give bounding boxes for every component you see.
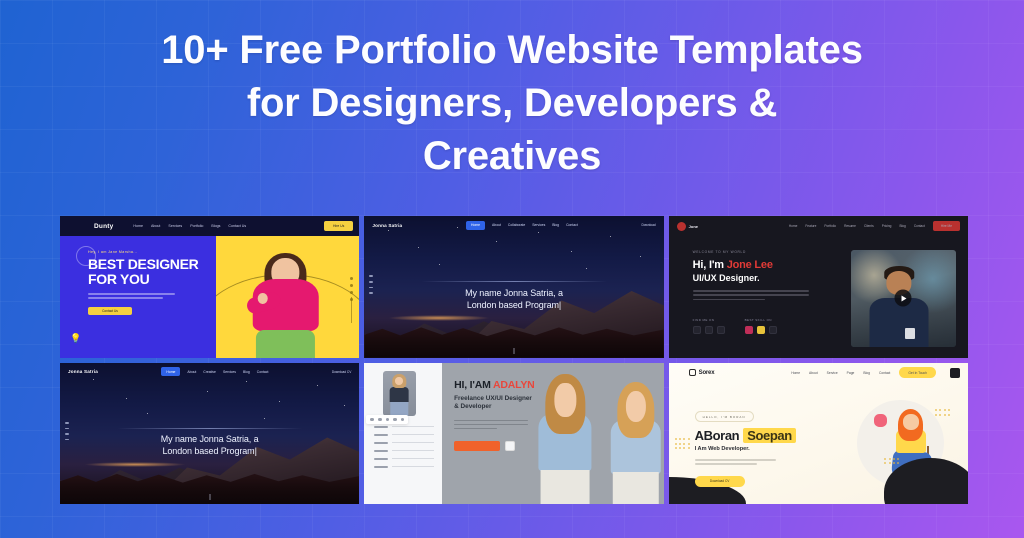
jonelee-heading-accent: Jone Lee <box>727 259 773 271</box>
sorex-cta-button[interactable]: Get In Touch <box>899 367 936 378</box>
dot-pattern-icon <box>935 409 950 415</box>
adalyn-hire-button[interactable] <box>454 441 500 451</box>
sketch-icon[interactable] <box>757 326 765 334</box>
person-front <box>539 374 592 504</box>
dribbble-icon[interactable] <box>401 418 405 422</box>
horizon-glow <box>117 428 303 429</box>
jonna-a-nav-item-home[interactable]: Home <box>466 221 485 230</box>
sorex-body-text <box>695 459 777 465</box>
jonelee-social-group-find: FIND ME ON <box>693 318 725 334</box>
adalyn-hero-copy: HI, I'AM ADALYN Freelance UX/UI Designer… <box>442 363 544 505</box>
dunty-hero-image <box>216 236 360 358</box>
jonelee-nav-item-clients[interactable]: Clients <box>864 224 874 228</box>
invision-icon[interactable] <box>745 326 753 334</box>
sorex-download-button[interactable]: Download CV <box>695 476 745 487</box>
dunty-nav-cta-button[interactable]: Hire Us <box>324 221 353 231</box>
dunty-hero: 💡 Hey, I am Jane Marsha... BEST DESIGNER… <box>60 236 359 358</box>
adalyn-social-icons[interactable] <box>366 415 408 425</box>
dunty-person-illustration <box>232 251 338 358</box>
jonelee-navbar: Jone Home Feature Portfolio Resume Clien… <box>669 216 968 236</box>
jonna-a-nav-menu: Home About Collaborate Services Blog Con… <box>466 221 578 230</box>
jonna-a-heading-line2: London based Program| <box>403 299 625 311</box>
title-line-2: for Designers, Developers & <box>0 77 1024 130</box>
jonelee-hire-button[interactable]: Hire Me <box>933 221 960 231</box>
adalyn-hero-image <box>531 363 664 505</box>
template-thumbnail-jonna-satria-a[interactable]: Jonna Satria Home About Collaborate Serv… <box>364 216 663 358</box>
sorex-heading: ABoran Soepan <box>695 428 819 443</box>
page-title: 10+ Free Portfolio Website Templates for… <box>0 0 1024 182</box>
adalyn-heading-prefix: HI, I'AM <box>454 379 493 391</box>
instagram-icon[interactable] <box>705 326 713 334</box>
sorex-navbar: Sorex Home About Service Page Blog Conta… <box>669 363 968 383</box>
jonna-b-heading-line1: My name Jonna Satria, a <box>99 433 321 445</box>
jonelee-nav-item-contact[interactable]: Contact <box>914 224 925 228</box>
dot-pattern-icon <box>884 458 899 464</box>
jonelee-nav-item-resume[interactable]: Resume <box>844 224 856 228</box>
linkedin-icon[interactable] <box>393 418 397 422</box>
jonna-b-heading: My name Jonna Satria, a London based Pro… <box>99 433 321 457</box>
dunty-nav-menu: Home About Services Portfolio Blogs Cont… <box>133 224 246 228</box>
sorex-hero-copy: HELLO, I'M BORAN ABoran Soepan I Am Web … <box>669 383 819 505</box>
dunty-navbar: Dunty Home About Services Portfolio Blog… <box>60 216 359 236</box>
jonelee-heading: Hi, I'm Jone Lee <box>693 259 839 272</box>
jonelee-heading-prefix: Hi, I'm <box>693 259 727 271</box>
dunty-nav-item-blogs[interactable]: Blogs <box>211 224 220 228</box>
sorex-nav-item-contact[interactable]: Contact <box>879 371 890 375</box>
social-dots-icon <box>350 277 353 301</box>
jonelee-logo: Jone <box>689 224 698 229</box>
jonna-a-heading: My name Jonna Satria, a London based Pro… <box>403 287 625 311</box>
sorex-nav-item-about[interactable]: About <box>809 371 818 375</box>
template-gallery: Dunty Home About Services Portfolio Blog… <box>60 216 968 504</box>
menu-toggle-icon[interactable] <box>950 368 960 378</box>
dunty-nav-item-about[interactable]: About <box>151 224 160 228</box>
list-item <box>374 442 434 444</box>
jonna-a-nav-item-about[interactable]: About <box>492 223 501 227</box>
adalyn-secondary-button[interactable] <box>505 441 515 451</box>
adalyn-subheading: Freelance UX/UI Designer & Developer <box>454 395 533 412</box>
adalyn-profile-photo <box>383 371 416 416</box>
template-thumbnail-jone-lee[interactable]: Jone Home Feature Portfolio Resume Clien… <box>669 216 968 358</box>
jonelee-social-label-right: BEST SKILL ON <box>745 318 777 322</box>
instagram-icon[interactable] <box>386 418 390 422</box>
jonelee-social-group-skills: BEST SKILL ON <box>745 318 777 334</box>
adalyn-actions <box>454 441 544 451</box>
social-sidebar-icon[interactable] <box>369 275 373 293</box>
jonna-b-heading-line2: London based Program| <box>99 445 321 457</box>
jonna-a-nav-item-services[interactable]: Services <box>532 223 545 227</box>
jonna-a-heading-line1: My name Jonna Satria, a <box>403 287 625 299</box>
jonna-a-logo[interactable]: Jonna Satria <box>372 223 402 228</box>
dunty-heading-line1: BEST DESIGNER <box>88 257 216 272</box>
sorex-nav-menu: Home About Service Page Blog Contact Get… <box>791 367 960 378</box>
jonelee-nav-item-home[interactable]: Home <box>789 224 798 228</box>
horizon-glow <box>421 281 607 282</box>
sorex-subheading: I Am Web Developer. <box>695 446 819 452</box>
adalyn-heading-accent: ADALYN <box>493 379 535 391</box>
jonelee-social-row: FIND ME ON BEST SKILL ON <box>693 318 839 334</box>
dunty-nav-item-contact[interactable]: Contact Us <box>228 224 246 228</box>
dunty-nav-item-services[interactable]: Services <box>168 224 182 228</box>
linkedin-icon[interactable] <box>717 326 725 334</box>
sorex-logo-icon <box>689 369 696 376</box>
circle-decoration-icon <box>76 246 96 266</box>
template-thumbnail-adalyn[interactable]: HI, I'AM ADALYN Freelance UX/UI Designer… <box>364 363 663 505</box>
jonelee-brand[interactable]: Jone <box>677 222 698 231</box>
sorex-hero-illustration <box>818 383 968 505</box>
jonna-a-nav-item-blog[interactable]: Blog <box>552 223 559 227</box>
adalyn-hero: HI, I'AM ADALYN Freelance UX/UI Designer… <box>442 363 664 505</box>
twitter-icon[interactable] <box>378 418 382 422</box>
jonelee-nav-item-blog[interactable]: Blog <box>899 224 905 228</box>
sorex-brand[interactable]: Sorex <box>689 369 715 376</box>
list-item <box>374 458 434 460</box>
avatar-icon <box>677 222 686 231</box>
template-thumbnail-dunty[interactable]: Dunty Home About Services Portfolio Blog… <box>60 216 359 358</box>
jonelee-social-label-left: FIND ME ON <box>693 318 725 322</box>
facebook-icon[interactable] <box>370 418 374 422</box>
list-item <box>374 466 434 468</box>
jonelee-body-text <box>693 290 810 300</box>
jonelee-hero: WELCOME TO MY WORLD Hi, I'm Jone Lee UI/… <box>669 236 968 358</box>
dunty-eyebrow: Hey, I am Jane Marsha... <box>88 250 216 254</box>
sorex-nav-item-blog[interactable]: Blog <box>863 371 870 375</box>
city-lights <box>388 315 490 321</box>
jonelee-nav-menu: Home Feature Portfolio Resume Clients Pr… <box>789 221 960 231</box>
play-button-icon[interactable] <box>895 290 912 307</box>
jonna-a-nav-download[interactable]: Download <box>641 223 655 227</box>
adalyn-body-text <box>454 420 528 430</box>
jonna-b-nav-download[interactable]: Download CV <box>332 370 352 374</box>
scroll-indicator-icon <box>513 348 514 354</box>
jonelee-nav-item-portfolio[interactable]: Portfolio <box>824 224 836 228</box>
dunty-body-text <box>88 293 175 299</box>
adalyn-info-list <box>374 426 434 468</box>
jonna-b-nav-item-contact[interactable]: Contact <box>257 370 269 374</box>
lightbulb-icon: 💡 <box>70 333 81 344</box>
list-item <box>374 434 434 436</box>
list-item <box>374 426 434 428</box>
scroll-indicator-icon <box>209 494 210 500</box>
jonelee-video-card[interactable] <box>851 250 956 347</box>
sorex-heading-accent: Soepan <box>743 428 796 443</box>
sorex-nav-item-home[interactable]: Home <box>791 371 800 375</box>
dunty-heading-line2: FOR YOU <box>88 272 216 287</box>
jonna-b-nav-item-creative[interactable]: Creative <box>203 370 216 374</box>
figma-icon[interactable] <box>769 326 777 334</box>
jonna-b-navbar: Jonna Satria Home About Creative Service… <box>60 363 359 381</box>
jonna-b-nav-item-blog[interactable]: Blog <box>243 370 250 374</box>
dunty-cta-button[interactable]: Contact Us <box>88 307 132 315</box>
facebook-icon[interactable] <box>693 326 701 334</box>
city-lights <box>84 462 186 468</box>
jonna-a-nav-item-collaborate[interactable]: Collaborate <box>508 223 525 227</box>
list-item <box>374 450 434 452</box>
jonelee-subheading: UI/UX Designer. <box>693 273 839 283</box>
jonelee-hero-copy: WELCOME TO MY WORLD Hi, I'm Jone Lee UI/… <box>693 250 839 358</box>
template-thumbnail-sorex[interactable]: Sorex Home About Service Page Blog Conta… <box>669 363 968 505</box>
jonna-b-nav-item-services[interactable]: Services <box>223 370 236 374</box>
jonelee-nav-item-feature[interactable]: Feature <box>805 224 816 228</box>
template-thumbnail-jonna-satria-b[interactable]: Jonna Satria Home About Creative Service… <box>60 363 359 505</box>
jonna-b-logo[interactable]: Jonna Satria <box>68 369 98 374</box>
dunty-hero-copy: 💡 Hey, I am Jane Marsha... BEST DESIGNER… <box>60 236 216 358</box>
jonna-b-nav-menu: Home About Creative Services Blog Contac… <box>161 367 268 376</box>
sorex-hero: HELLO, I'M BORAN ABoran Soepan I Am Web … <box>669 383 968 505</box>
sorex-nav-item-page[interactable]: Page <box>847 371 855 375</box>
title-line-1: 10+ Free Portfolio Website Templates <box>0 24 1024 77</box>
adalyn-heading: HI, I'AM ADALYN <box>454 379 544 391</box>
dunty-logo[interactable]: Dunty <box>94 223 113 230</box>
jonna-b-nav-item-home[interactable]: Home <box>161 367 180 376</box>
sorex-logo: Sorex <box>699 370 715 376</box>
jonna-a-nav-item-contact[interactable]: Contact <box>566 223 578 227</box>
adalyn-sidebar <box>364 363 442 505</box>
jonna-a-navbar: Jonna Satria Home About Collaborate Serv… <box>364 216 663 234</box>
person-back <box>611 382 662 504</box>
sorex-eyebrow: HELLO, I'M BORAN <box>695 411 754 422</box>
jonna-b-nav-item-about[interactable]: About <box>187 370 196 374</box>
title-line-3: Creatives <box>0 130 1024 183</box>
hand-illustration <box>874 414 887 427</box>
jonelee-eyebrow: WELCOME TO MY WORLD <box>693 250 839 254</box>
sorex-heading-prefix: ABoran <box>695 428 740 443</box>
dunty-nav-item-home[interactable]: Home <box>133 224 143 228</box>
sorex-nav-item-service[interactable]: Service <box>827 371 838 375</box>
dunty-nav-item-portfolio[interactable]: Portfolio <box>190 224 203 228</box>
jonelee-nav-item-pricing[interactable]: Pricing <box>882 224 892 228</box>
social-sidebar-icon[interactable] <box>65 422 69 440</box>
